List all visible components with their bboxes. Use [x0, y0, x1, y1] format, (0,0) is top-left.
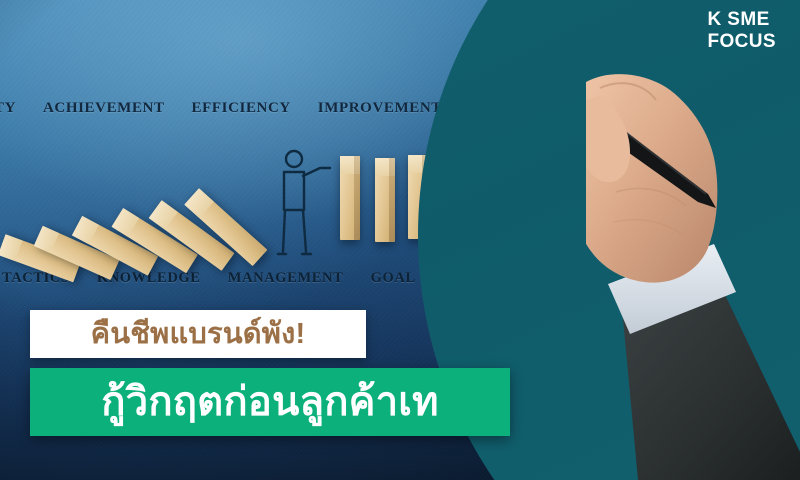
logo-line-2: FOCUS — [708, 32, 777, 51]
headline-banner-white: คืนชีพแบรนด์พัง! — [30, 310, 366, 358]
logo-line-1: K SME — [708, 10, 777, 29]
headline-banner-green: กู้วิกฤตก่อนลูกค้าเท — [30, 368, 510, 436]
hand-holding-pen — [586, 72, 800, 480]
poster-canvas: TY ACHIEVEMENT EFFICIENCY IMPROVEMENT ST… — [0, 0, 800, 480]
ksme-focus-logo: K SME FOCUS — [708, 10, 777, 51]
headline-line-1: คืนชีพแบรนด์พัง! — [91, 320, 306, 349]
hand-with-pen-illustration — [586, 72, 800, 480]
headline-line-2: กู้วิกฤตก่อนลูกค้าเท — [101, 382, 438, 422]
